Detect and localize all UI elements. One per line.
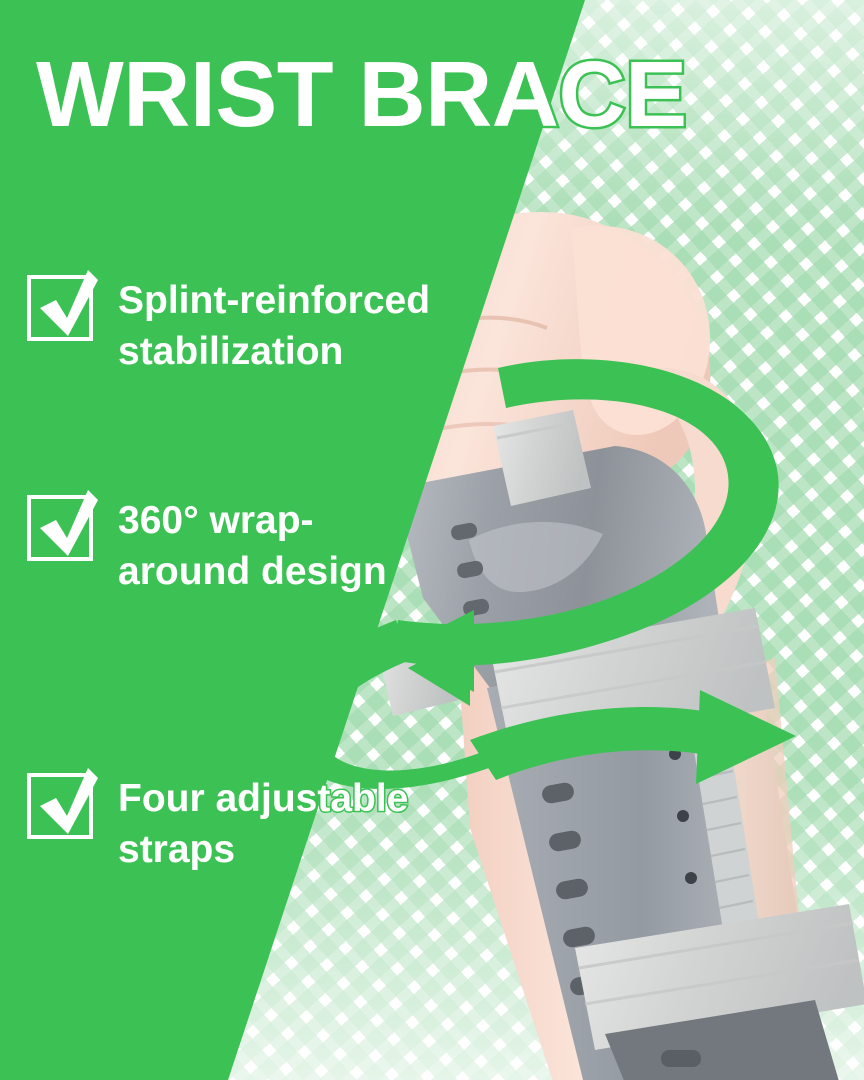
product-feature-poster: WRIST BRACE Splint-reinforced stabilizat…	[0, 0, 864, 1080]
feature-label: Splint-reinforced stabilization	[118, 262, 490, 377]
feature-label: Four adjustable straps	[118, 760, 478, 875]
feature-item: Splint-reinforced stabilization	[26, 262, 490, 377]
page-title: WRIST BRACE	[36, 48, 736, 141]
feature-item: Four adjustable straps	[26, 760, 478, 875]
feature-label: 360° wrap-around design	[118, 482, 418, 597]
feature-item: 360° wrap-around design	[26, 482, 418, 597]
checkbox-checked-icon	[26, 766, 98, 844]
checkbox-checked-icon	[26, 268, 98, 346]
checkbox-checked-icon	[26, 488, 98, 566]
